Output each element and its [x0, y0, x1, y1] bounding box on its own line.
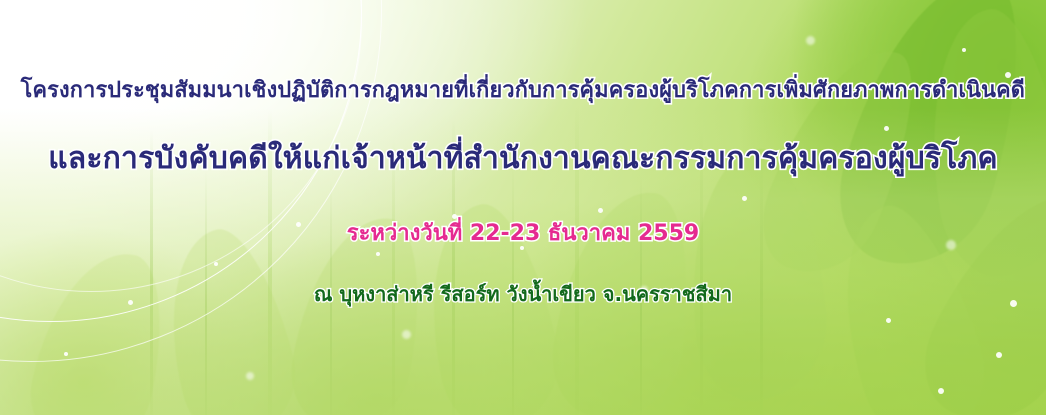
event-venue: ณ บุหงาส่าหรี รีสอร์ท วังน้ำเขียว จ.นครร…	[314, 282, 732, 306]
leaf-shape	[408, 195, 572, 415]
bokeh-dot	[598, 208, 603, 213]
bokeh-dot	[520, 246, 524, 250]
background-grass-strokes-2	[0, 0, 1046, 415]
bokeh-dot	[996, 352, 1002, 358]
swoosh-arc	[0, 0, 362, 292]
bokeh-dot	[64, 352, 68, 356]
swoosh-arc	[0, 0, 362, 322]
leaf-shape	[677, 144, 834, 406]
event-banner: โครงการประชุมสัมมนาเชิงปฏิบัติการกฎหมายท…	[0, 0, 1046, 415]
bokeh-dot	[1010, 300, 1017, 307]
swoosh-arc	[0, 0, 382, 362]
event-date: ระหว่างวันที่ 22-23 ธันวาคม 2559	[347, 221, 699, 247]
bokeh-dot	[376, 252, 380, 256]
background-green-blooms	[0, 0, 1046, 415]
bokeh-dot	[128, 300, 133, 305]
leaf-shape	[822, 0, 1046, 285]
bokeh-dot	[676, 232, 680, 236]
bokeh-dot	[938, 388, 944, 394]
bokeh-dot	[296, 222, 301, 227]
banner-text-stack: โครงการประชุมสัมมนาเชิงปฏิบัติการกฎหมายท…	[0, 0, 1046, 415]
bokeh-dot	[246, 372, 254, 380]
event-title-line-2: และการบังคับคดีให้แก่เจ้าหน้าที่สำนักงาน…	[48, 142, 998, 176]
bokeh-dot	[884, 126, 889, 131]
background-gradient	[0, 0, 1046, 415]
bokeh-dot	[818, 90, 822, 94]
bokeh-dot	[962, 48, 966, 52]
event-title-line-1: โครงการประชุมสัมมนาเชิงปฏิบัติการกฎหมายท…	[21, 74, 1025, 108]
bokeh-dot	[886, 318, 891, 323]
leaf-shape	[745, 28, 939, 292]
bokeh-dot	[214, 262, 218, 266]
bokeh-dot	[806, 36, 815, 45]
bokeh-dot	[452, 214, 457, 219]
bokeh-dot	[402, 330, 411, 339]
leaf-shape	[21, 240, 180, 415]
bokeh-dot	[946, 240, 956, 250]
bokeh-dot	[742, 196, 747, 201]
bokeh-dot	[640, 286, 648, 294]
leaf-shape	[910, 1, 1046, 283]
leaf-shape	[146, 219, 309, 415]
leaf-shape	[812, 192, 1004, 415]
leaf-shape	[545, 182, 704, 415]
bokeh-dot	[1005, 72, 1011, 78]
background-veil	[0, 0, 1046, 415]
background-grass-strokes	[0, 0, 1046, 415]
leaf-shape	[904, 164, 1046, 415]
leaf-shape	[282, 206, 436, 415]
